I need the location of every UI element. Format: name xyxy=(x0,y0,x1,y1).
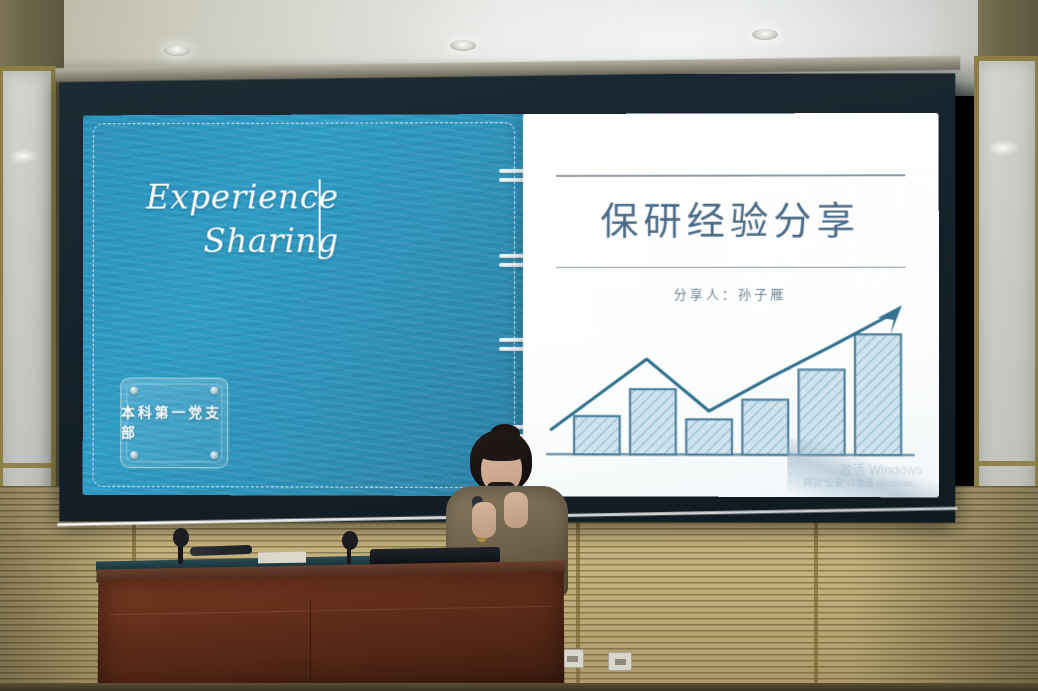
microphone-head-right xyxy=(342,531,358,550)
door-mullion xyxy=(3,463,51,468)
title-bottom-rule xyxy=(556,267,906,269)
presenter-right-hand xyxy=(504,492,528,528)
title-top-rule xyxy=(556,174,906,176)
paper-on-podium xyxy=(258,552,306,564)
wall-outlet xyxy=(608,652,632,671)
chart-bar xyxy=(630,390,676,455)
ceiling-downlight xyxy=(450,40,476,51)
podium xyxy=(96,565,567,691)
bar-chart-svg xyxy=(543,297,918,474)
badge-rivet xyxy=(130,386,138,394)
chart-bar xyxy=(855,335,901,456)
badge-rivet xyxy=(210,386,218,394)
slide-right-page: 保研经验分享 分享人：孙子雁 xyxy=(523,113,940,498)
glass-glare xyxy=(8,147,38,165)
ceiling-downlight xyxy=(752,29,778,40)
english-title-line2: Sharing xyxy=(109,219,338,263)
podium-body xyxy=(98,572,565,691)
organization-badge: 本科第一党支部 xyxy=(120,377,228,468)
lecture-hall-photo: Experience Sharing 本科第一党支部 xyxy=(0,0,1038,691)
podium-panel-split xyxy=(310,600,311,688)
door-mullion xyxy=(979,461,1035,466)
bar-chart-illustration xyxy=(543,297,918,474)
chart-bar xyxy=(743,400,789,455)
slide-title: 保研经验分享 xyxy=(523,190,939,246)
english-title-line1: Experience xyxy=(109,175,338,219)
presenter-left-hand xyxy=(472,502,496,538)
floor xyxy=(0,683,1038,691)
microphone-head-left xyxy=(173,528,189,547)
chart-bar xyxy=(686,420,732,455)
ceiling-downlight xyxy=(164,45,190,56)
watermark-line-2: 转到"设置"以激活 Windows。 xyxy=(804,478,923,490)
presenter-fringe xyxy=(476,440,528,461)
podium-panel-line xyxy=(108,606,554,616)
chart-bar xyxy=(799,370,845,455)
glass-glare xyxy=(985,139,1020,157)
title-vertical-rule xyxy=(319,179,321,254)
english-title: Experience Sharing xyxy=(109,175,338,262)
badge-label: 本科第一党支部 xyxy=(121,403,227,443)
